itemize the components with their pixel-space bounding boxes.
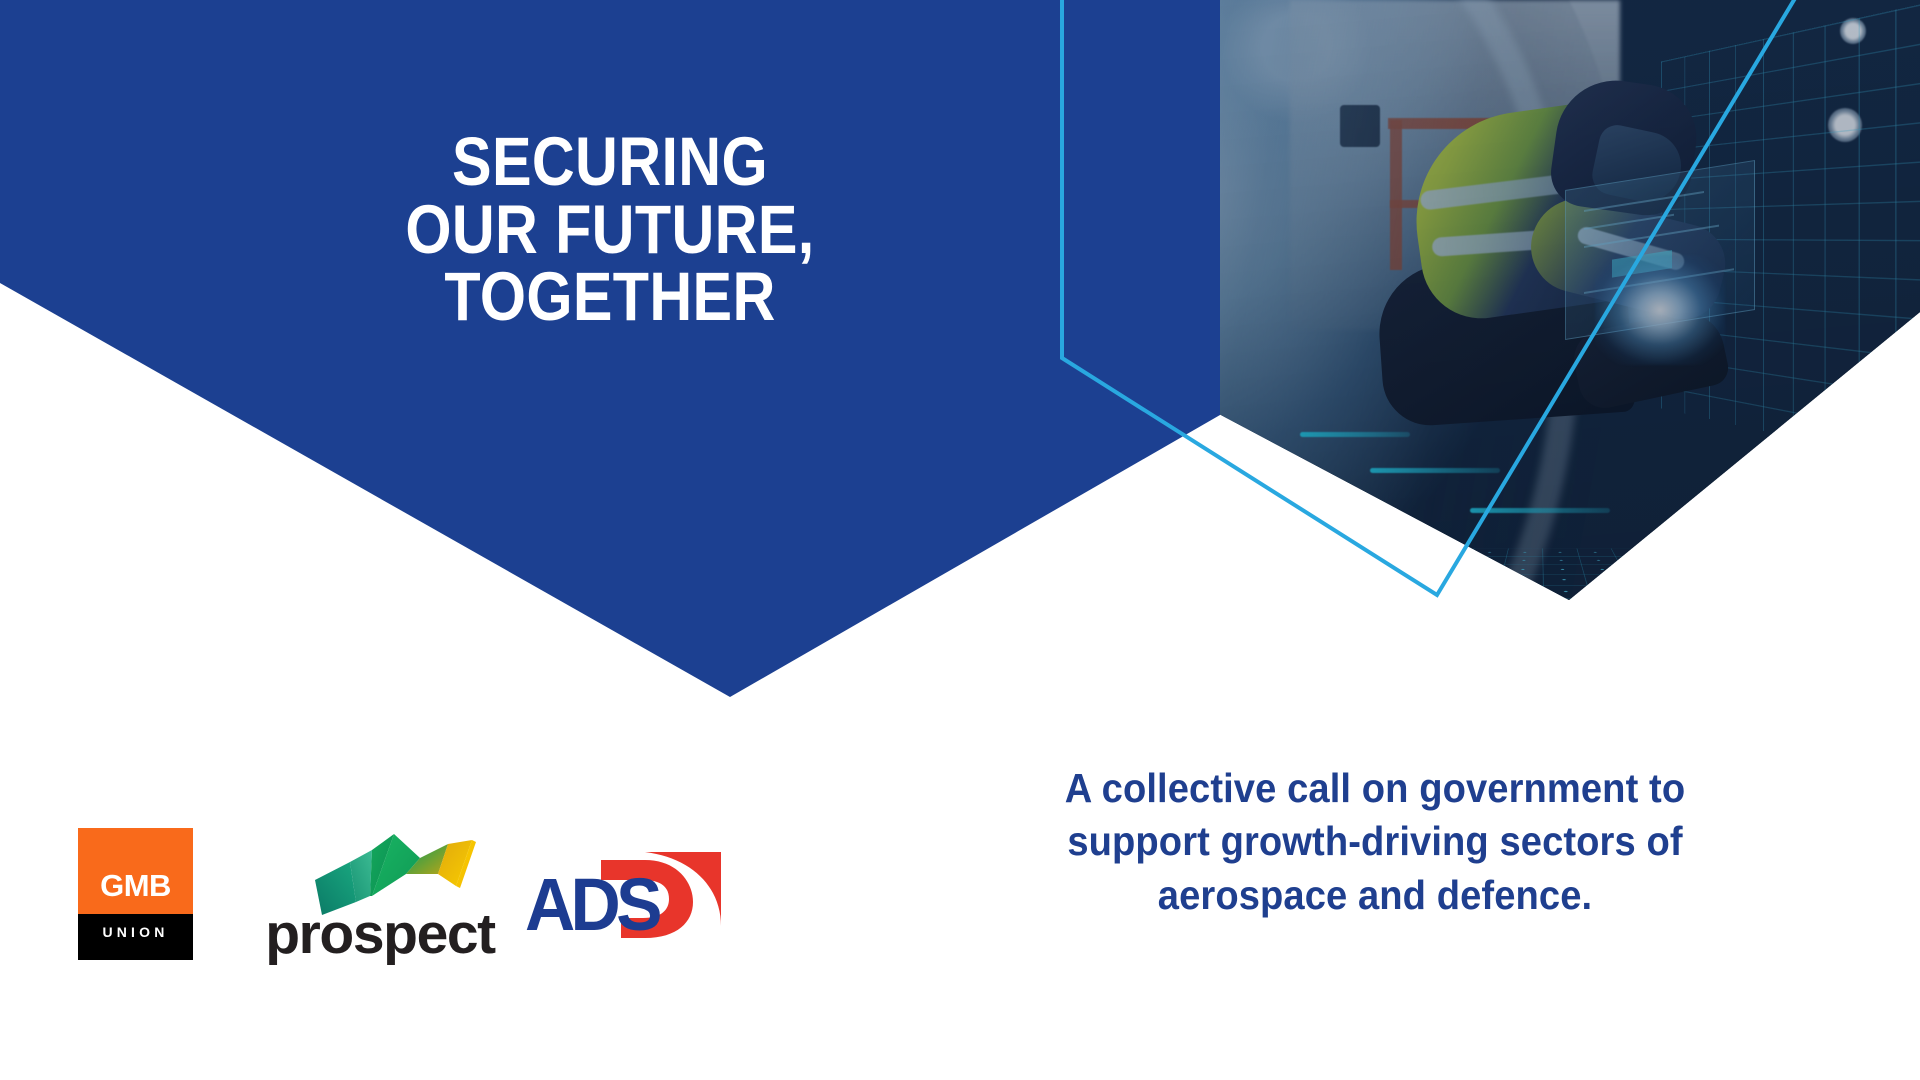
brand-blue-panel — [0, 0, 1220, 700]
gmb-union-text: UNION — [78, 925, 193, 939]
headline-line-2: Our Future, — [369, 196, 851, 264]
headline-line-3: Together — [369, 263, 851, 331]
prospect-wordmark: prospect — [260, 906, 500, 963]
headline-line-1: Securing — [369, 128, 851, 196]
ads-wordmark: ADS — [525, 868, 699, 942]
poster-canvas: Securing Our Future, Together A collecti… — [0, 0, 1920, 1080]
prospect-logo[interactable]: prospect — [260, 822, 500, 967]
gmb-logo[interactable]: GMB UNION — [78, 828, 193, 960]
gmb-wordmark: GMB — [78, 870, 193, 901]
page-title: Securing Our Future, Together — [369, 128, 851, 331]
photo-tint — [1140, 0, 1920, 600]
glow-bar-3 — [1260, 500, 1355, 505]
partner-logo-row: GMB UNION — [60, 820, 820, 970]
hero-photo — [1140, 0, 1920, 600]
tagline: A collective call on government to suppo… — [989, 762, 1761, 922]
ads-logo[interactable]: ADS — [525, 830, 755, 960]
